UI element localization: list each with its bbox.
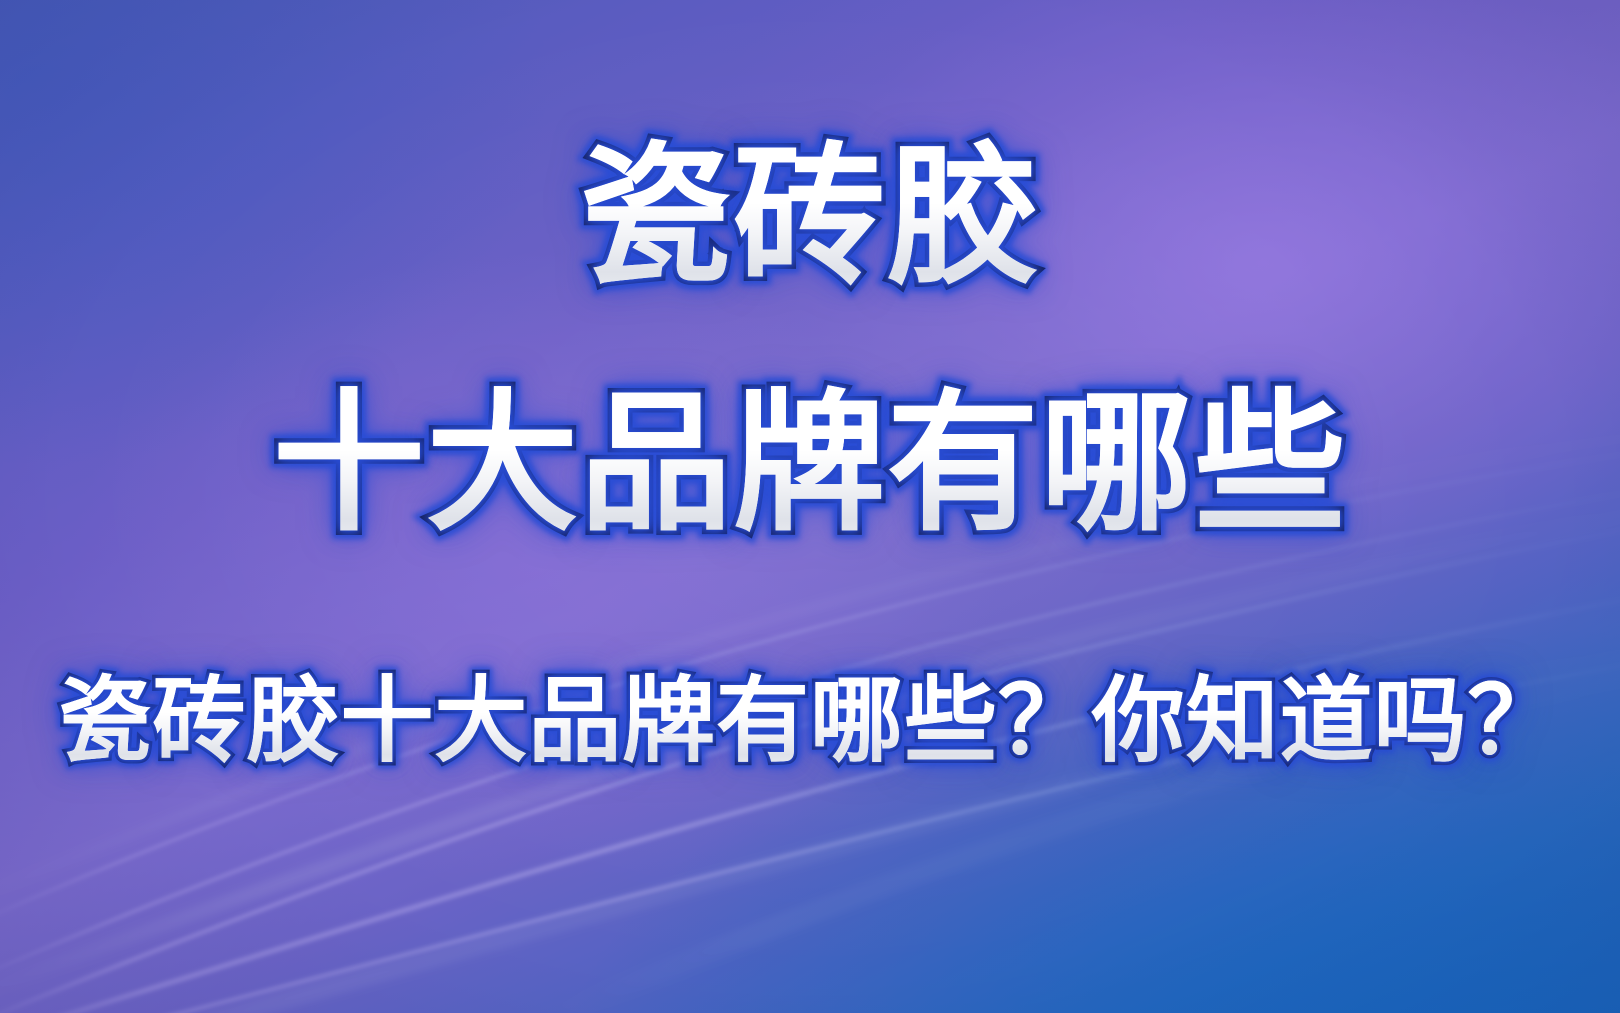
- subtitle-text: 瓷砖胶十大品牌有哪些？你知道吗？: [59, 668, 1562, 774]
- subtitle-line: 瓷砖胶十大品牌有哪些？你知道吗？ 瓷砖胶十大品牌有哪些？你知道吗？ 瓷砖胶十大品…: [0, 668, 1620, 774]
- poster-canvas: 瓷砖胶 瓷砖胶 瓷砖胶 十大品牌有哪些 十大品牌有哪些 十大品牌有哪些 瓷砖胶十…: [0, 0, 1620, 1013]
- headline-line-1-text: 瓷砖胶: [580, 131, 1041, 303]
- headline-line-2: 十大品牌有哪些 十大品牌有哪些 十大品牌有哪些: [0, 378, 1620, 550]
- headline-line-2-text: 十大品牌有哪些: [273, 378, 1348, 550]
- poster-text-block: 瓷砖胶 瓷砖胶 瓷砖胶 十大品牌有哪些 十大品牌有哪些 十大品牌有哪些 瓷砖胶十…: [0, 0, 1620, 1013]
- headline-line-1: 瓷砖胶 瓷砖胶 瓷砖胶: [0, 131, 1620, 303]
